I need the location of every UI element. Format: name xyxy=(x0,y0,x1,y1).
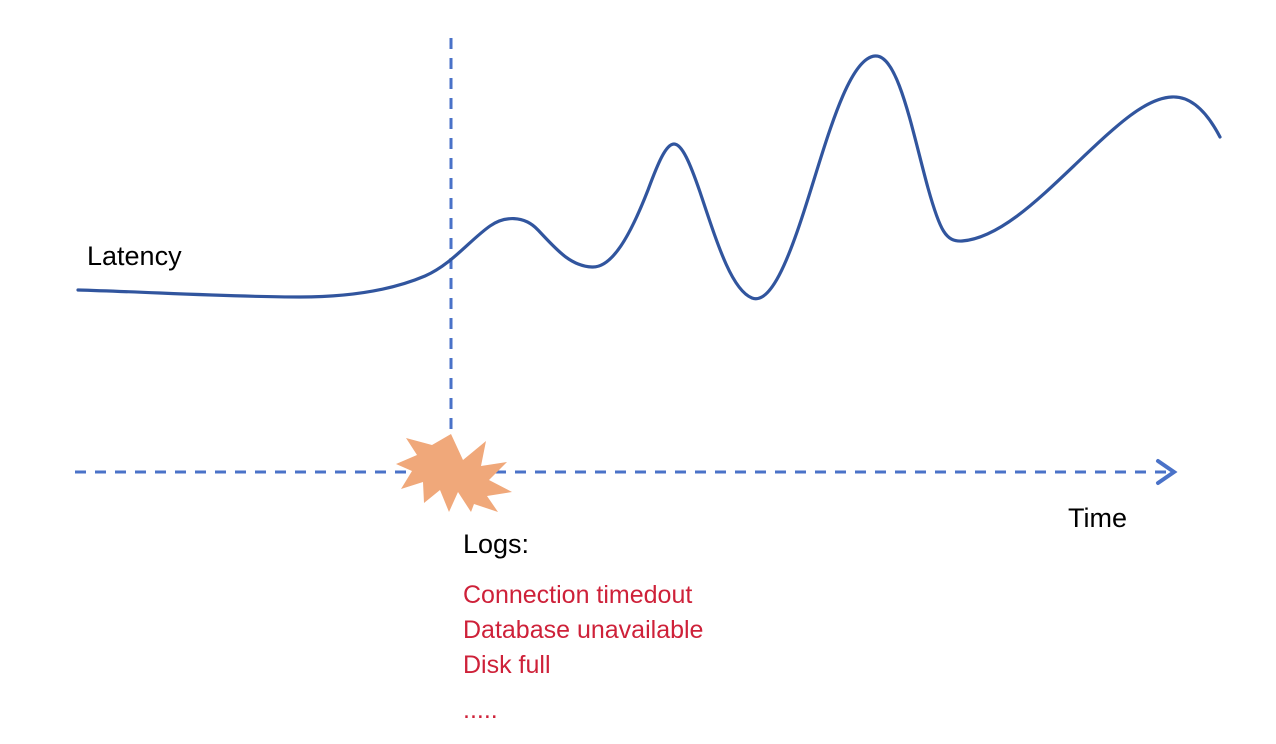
logs-list: Connection timedout Database unavailable… xyxy=(463,578,703,725)
list-item: Database unavailable xyxy=(463,613,703,648)
explosion-burst-icon xyxy=(396,434,512,512)
latency-curve xyxy=(78,56,1220,299)
diagram-canvas: Latency Time Logs: Connection timedout D… xyxy=(0,0,1276,744)
logs-ellipsis: ..... xyxy=(463,695,703,725)
list-item: Disk full xyxy=(463,648,703,683)
list-item: Connection timedout xyxy=(463,578,703,613)
y-axis-label: Latency xyxy=(87,243,182,270)
x-axis-label: Time xyxy=(1068,505,1127,532)
logs-heading: Logs: xyxy=(463,531,529,558)
